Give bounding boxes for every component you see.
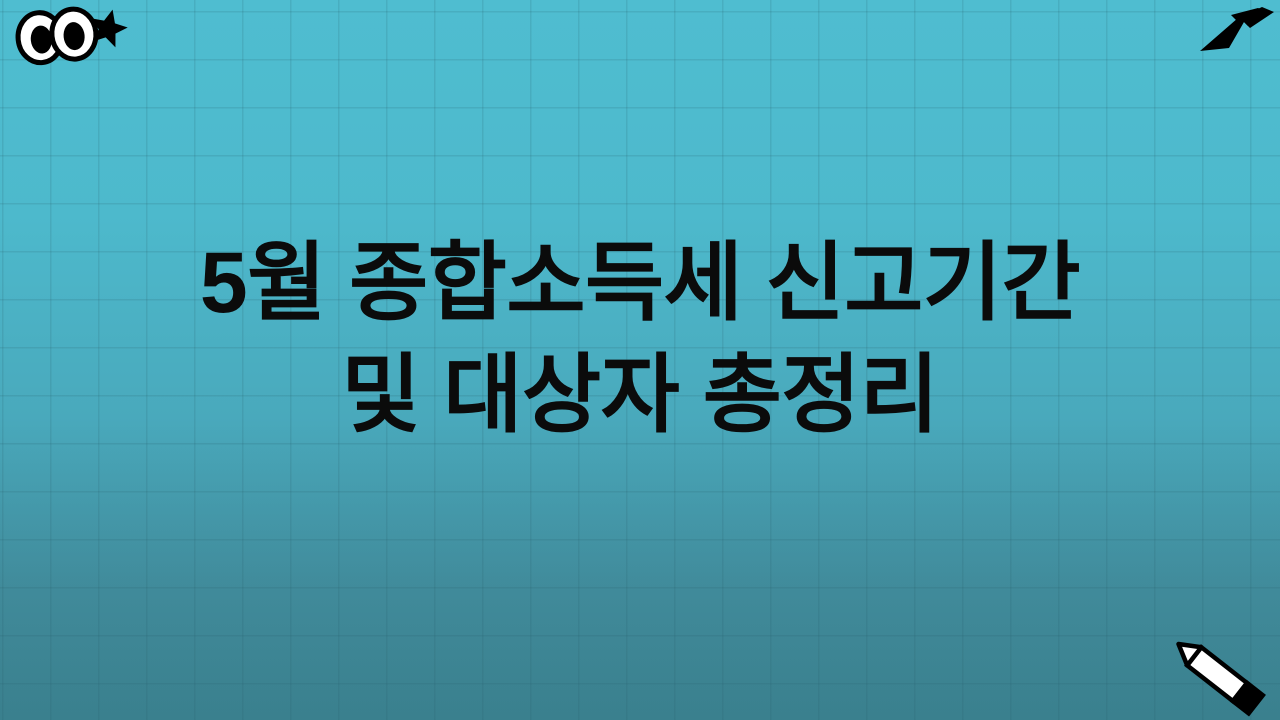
arrow-cursor-decoration [1198, 2, 1278, 64]
pencil-icon [1171, 635, 1262, 713]
page-title: 5월 종합소득세 신고기간 및 대상자 총정리 [0, 228, 1280, 452]
title-line-2: 및 대상자 총정리 [40, 340, 1240, 452]
eyes-star-decoration-group [8, 2, 138, 72]
googly-eyes-icon [16, 7, 99, 65]
thumbnail-canvas: 5월 종합소득세 신고기간 및 대상자 총정리 [0, 0, 1280, 720]
pencil-decoration [1164, 634, 1274, 716]
bottom-gradient-shade [0, 420, 1280, 720]
arrow-cursor-icon [1200, 7, 1274, 51]
title-line-1: 5월 종합소득세 신고기간 [40, 228, 1240, 340]
